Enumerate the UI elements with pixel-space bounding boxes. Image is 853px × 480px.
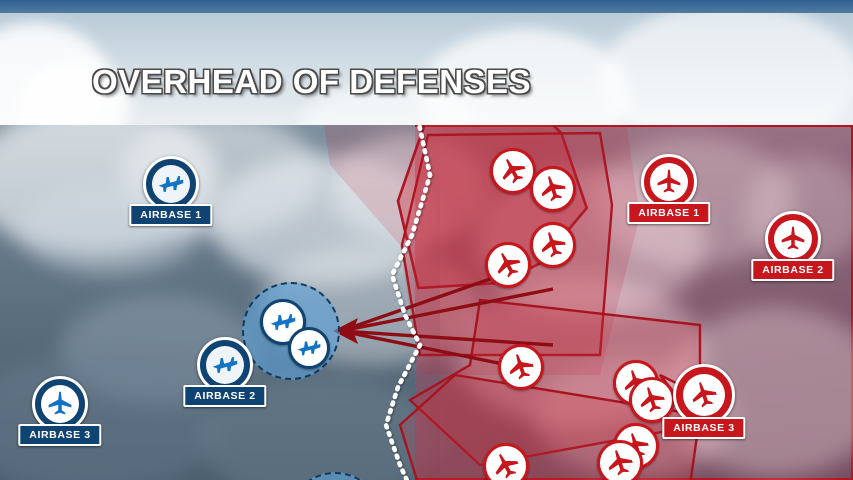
fighter-jet-front-icon [491, 451, 521, 480]
airbase-icon-inner [774, 220, 812, 258]
blue-airbase-2[interactable]: AIRBASE 2 [197, 337, 253, 393]
enemy-aircraft-icon[interactable] [530, 222, 576, 268]
fighter-jet-front-icon [538, 174, 568, 204]
enemy-aircraft-icon[interactable] [530, 166, 576, 212]
fighter-jet-front-icon [46, 390, 74, 418]
airbase-label: AIRBASE 3 [662, 417, 745, 439]
fighter-jet-side-icon [269, 308, 297, 336]
fighter-jet-front-icon [605, 448, 635, 478]
blue-airbase-1[interactable]: AIRBASE 1 [143, 156, 199, 212]
fighter-jet-side-icon [296, 335, 322, 361]
airbase-icon-inner [152, 165, 190, 203]
slide-canvas: OVERHEAD OF DEFENSES [0, 0, 853, 480]
airbase-label: AIRBASE 1 [627, 202, 710, 224]
red-airbase-1[interactable]: AIRBASE 1 [641, 154, 697, 210]
airbase-label: AIRBASE 3 [18, 424, 101, 446]
fighter-jet-front-icon [779, 225, 807, 253]
airbase-label: AIRBASE 2 [751, 259, 834, 281]
fighter-jet-front-icon [506, 352, 536, 382]
fighter-jet-front-icon [493, 250, 523, 280]
enemy-aircraft-icon[interactable] [597, 440, 643, 480]
airbase-icon-inner [41, 385, 79, 423]
fighter-jet-front-icon [498, 156, 528, 186]
airbase-label: AIRBASE 1 [129, 204, 212, 226]
enemy-aircraft-icon[interactable] [498, 344, 544, 390]
title-band: OVERHEAD OF DEFENSES [0, 13, 853, 125]
fighter-jet-front-icon [637, 385, 667, 415]
page-title: OVERHEAD OF DEFENSES [92, 63, 531, 101]
fighter-jet-front-icon [689, 380, 719, 410]
fighter-jet-front-icon [655, 168, 683, 196]
airbase-icon-inner [683, 374, 725, 416]
airbase-label: AIRBASE 2 [183, 385, 266, 407]
enemy-aircraft-icon[interactable] [485, 242, 531, 288]
fighter-jet-side-icon [211, 351, 239, 379]
blue-airbase-3[interactable]: AIRBASE 3 [32, 376, 88, 432]
red-airbase-2[interactable]: AIRBASE 2 [765, 211, 821, 267]
map-area: AIRBASE 1 AIRBASE 2 AIRBASE 3 [0, 125, 853, 480]
sky-strip [0, 0, 853, 13]
fighter-jet-side-icon [157, 170, 185, 198]
fighter-jet-front-icon [538, 230, 568, 260]
airbase-icon-inner [650, 163, 688, 201]
friendly-aircraft-icon[interactable] [288, 327, 330, 369]
airbase-icon-inner [206, 346, 244, 384]
red-airbase-3[interactable]: AIRBASE 3 [673, 364, 735, 426]
